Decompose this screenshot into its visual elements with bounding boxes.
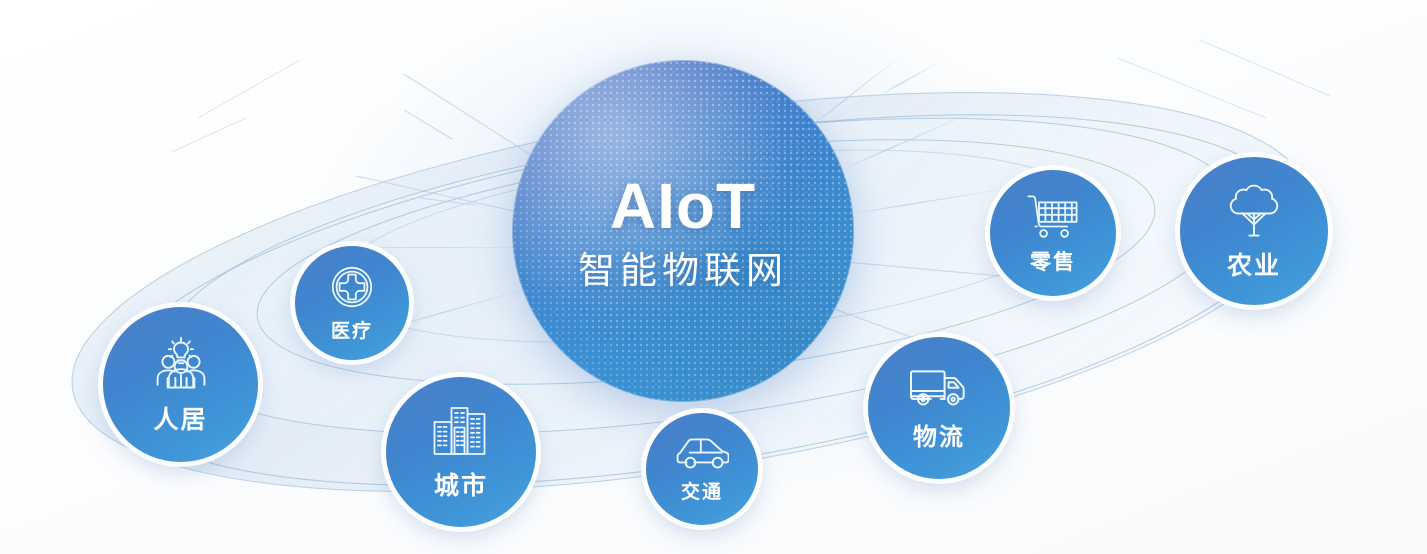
- people-lightbulb-icon: [151, 337, 211, 398]
- car-icon: [675, 437, 729, 476]
- globe-label-group: AIoT 智能物联网: [512, 60, 854, 402]
- node-label-nongye: 农业: [1227, 254, 1281, 279]
- node-jiaotong[interactable]: 交通: [646, 413, 758, 525]
- shopping-cart-icon: [1026, 193, 1080, 244]
- infographic-canvas: AIoT 智能物联网 人居: [0, 0, 1427, 554]
- node-nongye[interactable]: 农业: [1180, 157, 1328, 305]
- tree-icon: [1225, 183, 1283, 244]
- medical-cross-circle-icon: [330, 265, 374, 314]
- node-yiliao[interactable]: 医疗: [295, 246, 409, 360]
- node-label-yiliao: 医疗: [331, 322, 373, 341]
- node-label-chengshi: 城市: [434, 474, 488, 499]
- node-label-jiaotong: 交通: [681, 483, 723, 502]
- delivery-truck-icon: [908, 367, 970, 416]
- center-globe[interactable]: AIoT 智能物联网: [512, 60, 854, 402]
- globe-title: AIoT: [610, 174, 756, 238]
- node-label-renju: 人居: [153, 408, 207, 433]
- node-label-lingshou: 零售: [1030, 252, 1076, 273]
- node-label-wuliu: 物流: [913, 426, 965, 450]
- node-renju[interactable]: 人居: [103, 307, 258, 462]
- city-buildings-icon: [430, 405, 492, 464]
- globe-subtitle: 智能物联网: [578, 252, 788, 289]
- node-lingshou[interactable]: 零售: [990, 170, 1116, 296]
- node-wuliu[interactable]: 物流: [868, 337, 1010, 479]
- node-chengshi[interactable]: 城市: [386, 377, 536, 527]
